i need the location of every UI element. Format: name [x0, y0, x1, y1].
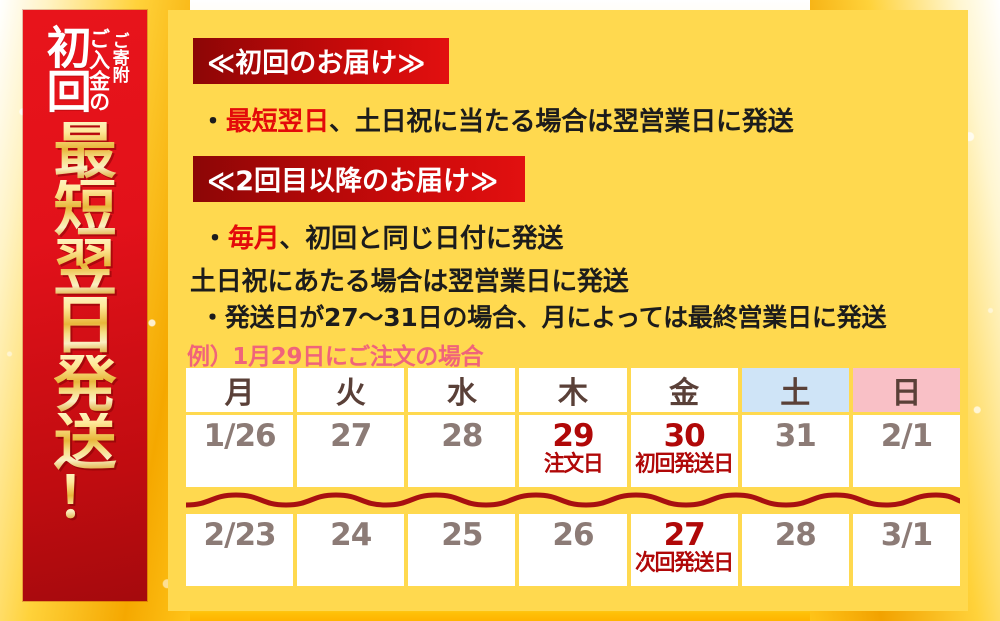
bullet-mark: ・ [200, 303, 225, 332]
banner-kicker: 初回 ご入金の ご寄附 [23, 24, 147, 120]
calendar-day-number: 3/1 [881, 519, 932, 552]
calendar-day-number: 28 [775, 519, 816, 552]
calendar-day-cell: 30初回発送日 [631, 415, 738, 487]
calendar-week-row-2: 2/2324252627次回発送日283/1 [186, 514, 960, 586]
calendar-day-cell: 27次回発送日 [631, 514, 738, 586]
calendar-day-cell: 29注文日 [519, 415, 626, 487]
calendar-day-number: 24 [330, 519, 371, 552]
subsequent-delivery-line-2: 土日祝にあたる場合は翌営業日に発送 [190, 261, 629, 298]
highlight-text: 最短翌日 [226, 107, 329, 137]
wavy-divider [186, 489, 960, 511]
first-delivery-line-1: ・最短翌日、土日祝に当たる場合は翌営業日に発送 [200, 101, 793, 138]
bullet-mark: ・ [200, 107, 226, 137]
calendar-day-number: 30 [664, 420, 705, 453]
subsequent-delivery-line-1: ・毎月、初回と同じ日付に発送 [202, 218, 563, 255]
calendar-day-cell: 31 [742, 415, 849, 487]
calendar-day-number: 26 [552, 519, 593, 552]
section-heading-first-delivery: ≪初回のお届け≫ [193, 38, 449, 84]
banner-headline: 最 短 翌 日 発 送 ！ [23, 122, 147, 592]
banner-kicker-sub1: ご入金の [88, 28, 109, 112]
body-text: 、土日祝に当たる場合は翌営業日に発送 [329, 107, 793, 137]
weekday-header-thu: 木 [519, 368, 626, 412]
weekday-header-wed: 水 [408, 368, 515, 412]
weekday-header-sat: 土 [742, 368, 849, 412]
calendar-day-number: 2/1 [881, 420, 932, 453]
calendar-week-row-1: 1/26272829注文日30初回発送日312/1 [186, 415, 960, 487]
calendar-day-number: 28 [441, 420, 482, 453]
subsequent-delivery-line-3: ・発送日が27〜31日の場合、月によっては最終営業日に発送 [200, 298, 886, 334]
calendar-day-number: 25 [441, 519, 482, 552]
promo-banner-canvas: 初回 ご入金の ご寄附 最 短 翌 日 発 送 ！ ≪初回のお届け≫ ・最短翌日… [0, 0, 1000, 621]
weekday-header-tue: 火 [297, 368, 404, 412]
calendar-day-cell: 28 [742, 514, 849, 586]
calendar-day-number: 27 [664, 519, 705, 552]
weekday-header-sun: 日 [853, 368, 960, 412]
calendar-day-cell: 2/1 [853, 415, 960, 487]
calendar-day-cell: 24 [297, 514, 404, 586]
calendar-day-number: 29 [552, 420, 593, 453]
body-text: 発送日が27〜31日の場合、月によっては最終営業日に発送 [225, 303, 886, 332]
banner-kicker-sub2: ご寄附 [110, 32, 127, 83]
calendar-day-label: 次回発送日 [635, 552, 733, 575]
calendar-day-cell: 28 [408, 415, 515, 487]
calendar-header-row: 月 火 水 木 金 土 日 [186, 368, 960, 412]
section-heading-subsequent-delivery: ≪2回目以降のお届け≫ [193, 156, 525, 202]
calendar-day-cell: 26 [519, 514, 626, 586]
bullet-mark: ・ [202, 224, 228, 254]
calendar-day-cell: 1/26 [186, 415, 293, 487]
calendar-day-number: 31 [775, 420, 816, 453]
calendar-day-cell: 25 [408, 514, 515, 586]
calendar-day-number: 2/23 [204, 519, 276, 552]
banner-kicker-main: 初回 [43, 24, 86, 112]
calendar-day-label: 注文日 [544, 453, 603, 476]
calendar-day-cell: 27 [297, 415, 404, 487]
vertical-headline-banner: 初回 ご入金の ご寄附 最 短 翌 日 発 送 ！ [23, 10, 147, 601]
body-text: 、初回と同じ日付に発送 [279, 224, 563, 254]
banner-headline-char: 短 [54, 180, 117, 238]
highlight-text: 毎月 [228, 224, 280, 254]
calendar-day-number: 1/26 [204, 420, 276, 453]
weekday-header-fri: 金 [631, 368, 738, 412]
example-calendar: 月 火 水 木 金 土 日 1/26272829注文日30初回発送日312/1 … [186, 368, 960, 586]
example-note: 例）1月29日にご注文の場合 [187, 337, 483, 371]
calendar-day-number: 27 [330, 420, 371, 453]
banner-headline-exclamation: ！ [56, 474, 114, 520]
calendar-day-label: 初回発送日 [635, 453, 733, 476]
calendar-day-cell: 2/23 [186, 514, 293, 586]
calendar-day-cell: 3/1 [853, 514, 960, 586]
weekday-header-mon: 月 [186, 368, 293, 412]
